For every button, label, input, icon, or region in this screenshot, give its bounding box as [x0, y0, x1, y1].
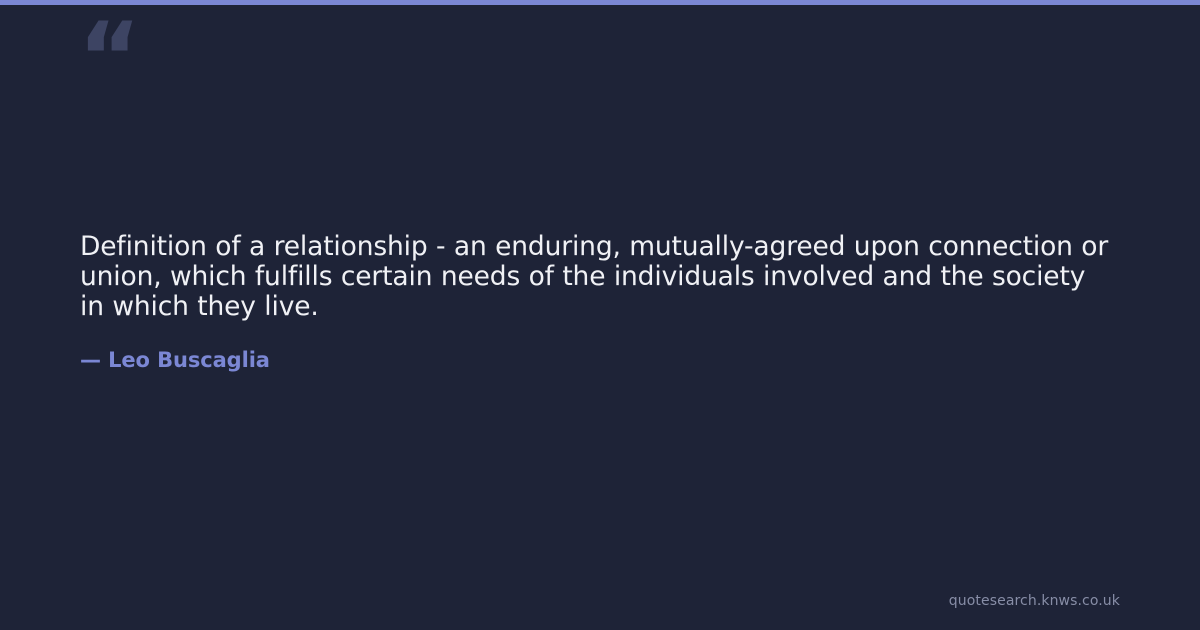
- attribution: — Leo Buscaglia: [80, 348, 270, 372]
- quote-card: “ Definition of a relationship - an endu…: [0, 0, 1200, 630]
- source-url: quotesearch.knws.co.uk: [949, 593, 1120, 609]
- quote-text: Definition of a relationship - an enduri…: [80, 232, 1115, 322]
- attribution-dash: —: [80, 348, 108, 372]
- left-double-quotation-mark-icon: “: [78, 10, 139, 106]
- top-accent-bar: [0, 0, 1200, 5]
- attribution-author-name: Leo Buscaglia: [108, 348, 270, 372]
- quote-body: Definition of a relationship - an enduri…: [80, 232, 1115, 322]
